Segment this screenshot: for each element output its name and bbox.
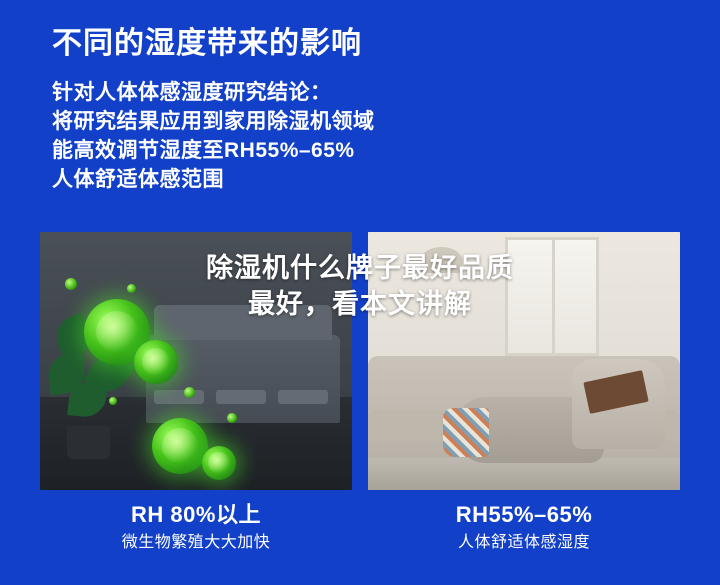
description-block: 针对人体体感湿度研究结论： 将研究结果应用到家用除湿机领域 能高效调节湿度至RH… [52, 78, 672, 194]
caption-right-sub: 人体舒适体感湿度 [368, 530, 680, 556]
caption-left-main: RH 80%以上 [40, 500, 352, 530]
person-shape [443, 330, 674, 474]
photo-row: 除湿机什么牌子最好品质 最好，看本文讲解 [40, 232, 680, 490]
patterned-sock-shape [443, 408, 489, 457]
description-line-3: 能高效调节湿度至RH55%–65% [52, 136, 672, 165]
comfortable-room-person-photo [368, 232, 680, 490]
microbe-icon [134, 340, 178, 384]
description-line-2: 将研究结果应用到家用除湿机领域 [52, 107, 672, 136]
cushion-shape [278, 390, 328, 404]
description-line-1: 针对人体体感湿度研究结论： [52, 78, 672, 107]
caption-left: RH 80%以上 微生物繁殖大大加快 [40, 500, 352, 556]
caption-right-main: RH55%–65% [368, 500, 680, 530]
dark-room-microbes-photo [40, 232, 352, 490]
caption-left-sub: 微生物繁殖大大加快 [40, 530, 352, 556]
cushion-shape [216, 390, 266, 404]
spore-icon [109, 397, 117, 405]
microbe-icon [152, 418, 208, 474]
caption-right: RH55%–65% 人体舒适体感湿度 [368, 500, 680, 556]
page-title: 不同的湿度带来的影响 [52, 18, 362, 62]
cushion-shape [154, 390, 204, 404]
spore-icon [227, 413, 237, 423]
lamp-shape [421, 247, 462, 273]
plant-pot-shape [67, 426, 110, 459]
spore-icon [127, 284, 136, 293]
sofa-shape [146, 335, 339, 423]
caption-row: RH 80%以上 微生物繁殖大大加快 RH55%–65% 人体舒适体感湿度 [40, 500, 680, 556]
poster-root: 不同的湿度带来的影响 针对人体体感湿度研究结论： 将研究结果应用到家用除湿机领域… [0, 0, 720, 585]
spore-icon [184, 387, 195, 398]
description-line-4: 人体舒适体感范围 [52, 165, 672, 194]
